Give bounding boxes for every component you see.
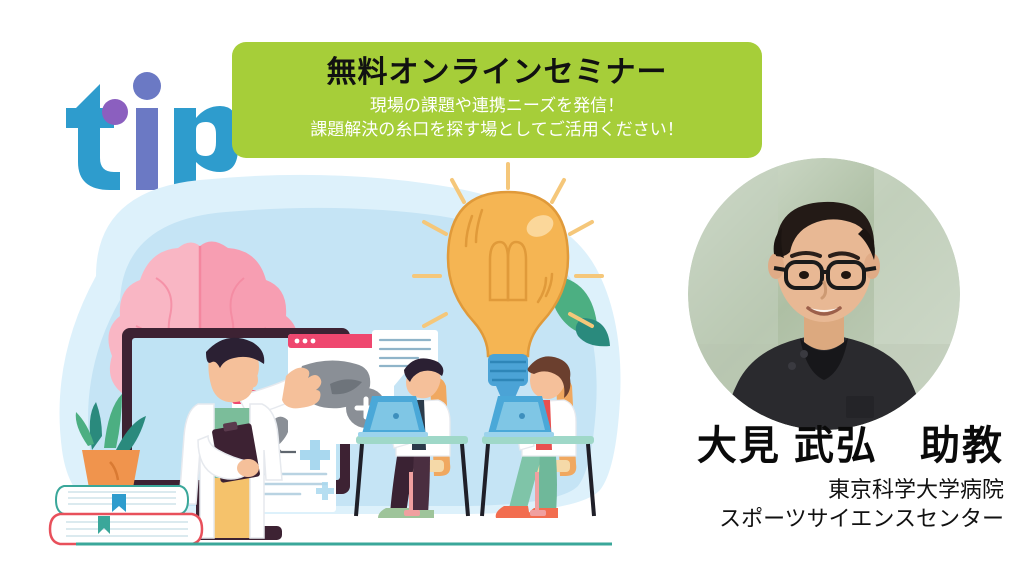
logo-letter-i-dot [133, 72, 161, 100]
banner-subtitle-line2: 課題解決の糸口を探す場としてご活用ください！ [310, 118, 684, 142]
speaker-info: 大見 武弘 助教 東京科学大学病院 スポーツサイエンスセンター [600, 424, 1004, 533]
illustration [0, 150, 660, 570]
books-stack [50, 486, 202, 544]
speaker-name: 大見 武弘 助教 [600, 424, 1004, 469]
speaker-affiliation-line1: 東京科学大学病院 [600, 475, 1004, 504]
illustration-art [0, 150, 660, 570]
seminar-banner: 無料オンラインセミナー 現場の課題や連携ニーズを発信！ 課題解決の糸口を探す場と… [232, 42, 762, 158]
banner-subtitle-line1: 現場の課題や連携ニーズを発信！ [370, 94, 624, 118]
speaker-portrait-photo [688, 158, 960, 430]
speaker-portrait [688, 158, 960, 430]
banner-title: 無料オンラインセミナー [327, 56, 668, 91]
logo-dot-purple [102, 99, 128, 125]
slide-canvas: 無料オンラインセミナー 現場の課題や連携ニーズを発信！ 課題解決の糸口を探す場と… [0, 0, 1024, 576]
speaker-affiliation-line2: スポーツサイエンスセンター [600, 504, 1004, 533]
